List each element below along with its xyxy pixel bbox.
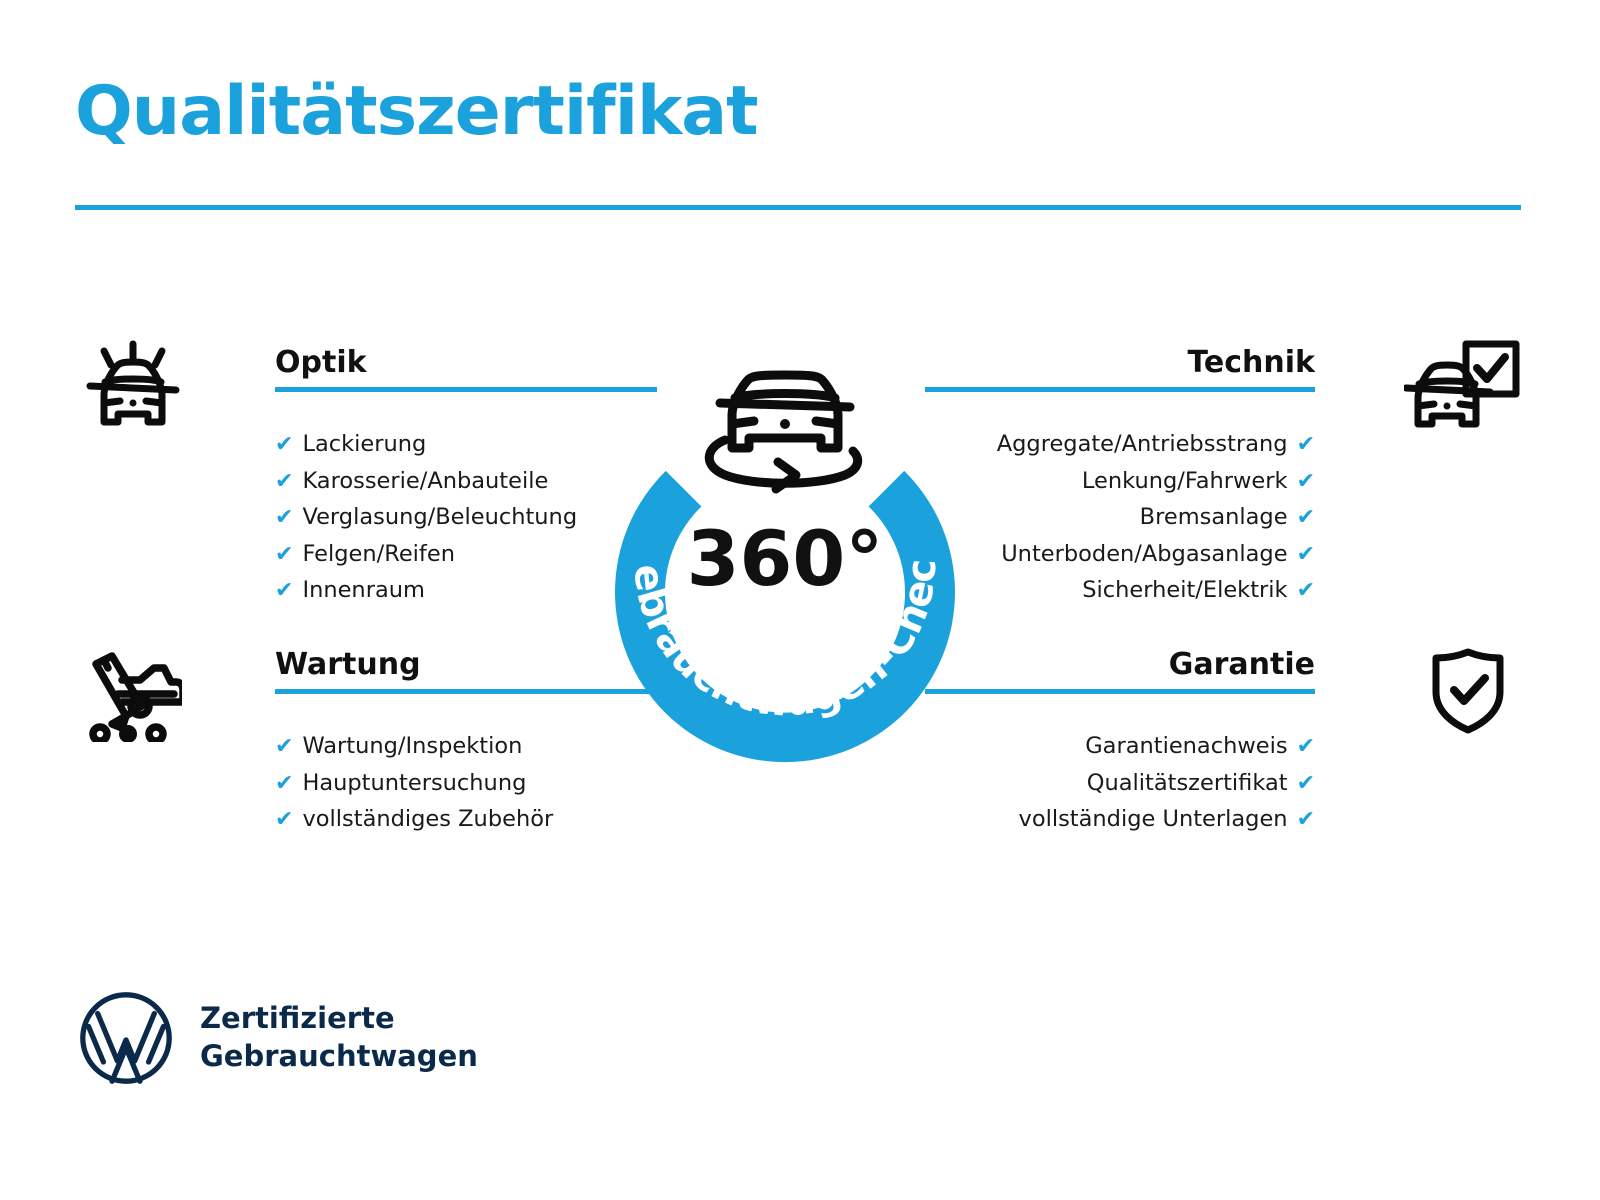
list-item: ✔Lackierung — [275, 426, 577, 463]
list-item-label: Sicherheit/Elektrik — [1082, 572, 1287, 609]
checklist-garantie: Garantienachweis✔ Qualitätszertifikat✔ v… — [1019, 728, 1316, 838]
list-item-label: vollständige Unterlagen — [1019, 801, 1288, 838]
check-icon: ✔ — [1297, 736, 1315, 758]
list-item-label: Bremsanlage — [1140, 499, 1288, 536]
section-title-garantie: Garantie — [1169, 650, 1315, 680]
list-item: Sicherheit/Elektrik✔ — [997, 572, 1315, 609]
car-front-checkbox-icon — [1404, 338, 1522, 438]
list-item: ✔Hauptuntersuchung — [275, 765, 553, 802]
list-item-label: Wartung/Inspektion — [302, 728, 522, 765]
section-technik: Technik Aggregate/Antriebsstrang✔ Lenkun… — [925, 330, 1525, 404]
list-item: Unterboden/Abgasanlage✔ — [997, 536, 1315, 573]
footer-line-2: Gebrauchtwagen — [200, 1038, 478, 1076]
badge-360-gebrauchtwagen-check: Gebrauchtwagen-Check 360° — [560, 300, 1010, 770]
list-item-label: Aggregate/Antriebsstrang — [997, 426, 1288, 463]
list-item-label: Innenraum — [302, 572, 424, 609]
list-item-label: Verglasung/Beleuchtung — [302, 499, 577, 536]
list-item: ✔Wartung/Inspektion — [275, 728, 553, 765]
list-item-label: vollständiges Zubehör — [302, 801, 553, 838]
footer-brand: Zertifizierte Gebrauchtwagen — [78, 990, 478, 1086]
list-item-label: Unterboden/Abgasanlage — [1001, 536, 1287, 573]
list-item: Bremsanlage✔ — [997, 499, 1315, 536]
certificate-page: Qualitätszertifikat Optik — [0, 0, 1600, 1200]
check-icon: ✔ — [1297, 809, 1315, 831]
checklist-technik: Aggregate/Antriebsstrang✔ Lenkung/Fahrwe… — [997, 426, 1315, 609]
check-icon: ✔ — [1297, 580, 1315, 602]
check-icon: ✔ — [1297, 471, 1315, 493]
check-icon: ✔ — [275, 736, 293, 758]
check-icon: ✔ — [1297, 544, 1315, 566]
badge-center-label: 360° — [687, 514, 884, 603]
volkswagen-logo — [78, 990, 174, 1086]
checklist-wartung: ✔Wartung/Inspektion ✔Hauptuntersuchung ✔… — [275, 728, 553, 838]
check-icon: ✔ — [275, 434, 293, 456]
section-header-garantie: Garantie — [925, 632, 1525, 706]
check-icon: ✔ — [1297, 773, 1315, 795]
check-icon: ✔ — [275, 809, 293, 831]
list-item-label: Qualitätszertifikat — [1087, 765, 1288, 802]
list-item-label: Lackierung — [302, 426, 426, 463]
shield-check-icon — [1429, 646, 1507, 738]
list-item: Aggregate/Antriebsstrang✔ — [997, 426, 1315, 463]
section-header-technik: Technik — [925, 330, 1525, 404]
section-title-technik: Technik — [1187, 348, 1315, 378]
check-icon: ✔ — [1297, 507, 1315, 529]
list-item-label: Karosserie/Anbauteile — [302, 463, 548, 500]
list-item: Lenkung/Fahrwerk✔ — [997, 463, 1315, 500]
check-icon: ✔ — [275, 773, 293, 795]
footer-line-1: Zertifizierte — [200, 1000, 478, 1038]
list-item-label: Felgen/Reifen — [302, 536, 455, 573]
check-icon: ✔ — [275, 471, 293, 493]
list-item: ✔Felgen/Reifen — [275, 536, 577, 573]
list-item-label: Garantienachweis — [1085, 728, 1287, 765]
footer-brand-text: Zertifizierte Gebrauchtwagen — [200, 1000, 478, 1075]
page-title: Qualitätszertifikat — [75, 78, 758, 146]
check-icon: ✔ — [275, 507, 293, 529]
check-icon: ✔ — [275, 544, 293, 566]
list-item-label: Hauptuntersuchung — [302, 765, 526, 802]
list-item: ✔Verglasung/Beleuchtung — [275, 499, 577, 536]
header-divider — [75, 205, 1521, 210]
list-item: ✔Karosserie/Anbauteile — [275, 463, 577, 500]
list-item: ✔vollständiges Zubehör — [275, 801, 553, 838]
car-front-shine-icon — [78, 338, 188, 438]
list-item: ✔Innenraum — [275, 572, 577, 609]
list-item: Garantienachweis✔ — [1019, 728, 1316, 765]
list-item-label: Lenkung/Fahrwerk — [1082, 463, 1288, 500]
section-title-wartung: Wartung — [275, 650, 421, 680]
section-title-optik: Optik — [275, 348, 367, 378]
pencil-car-service-icon — [78, 650, 182, 746]
check-icon: ✔ — [275, 580, 293, 602]
check-icon: ✔ — [1297, 434, 1315, 456]
car-front-rotate-icon — [709, 375, 857, 489]
checklist-optik: ✔Lackierung ✔Karosserie/Anbauteile ✔Verg… — [275, 426, 577, 609]
list-item: Qualitätszertifikat✔ — [1019, 765, 1316, 802]
list-item: vollständige Unterlagen✔ — [1019, 801, 1316, 838]
section-garantie: Garantie Garantienachweis✔ Qualitätszert… — [925, 632, 1525, 706]
